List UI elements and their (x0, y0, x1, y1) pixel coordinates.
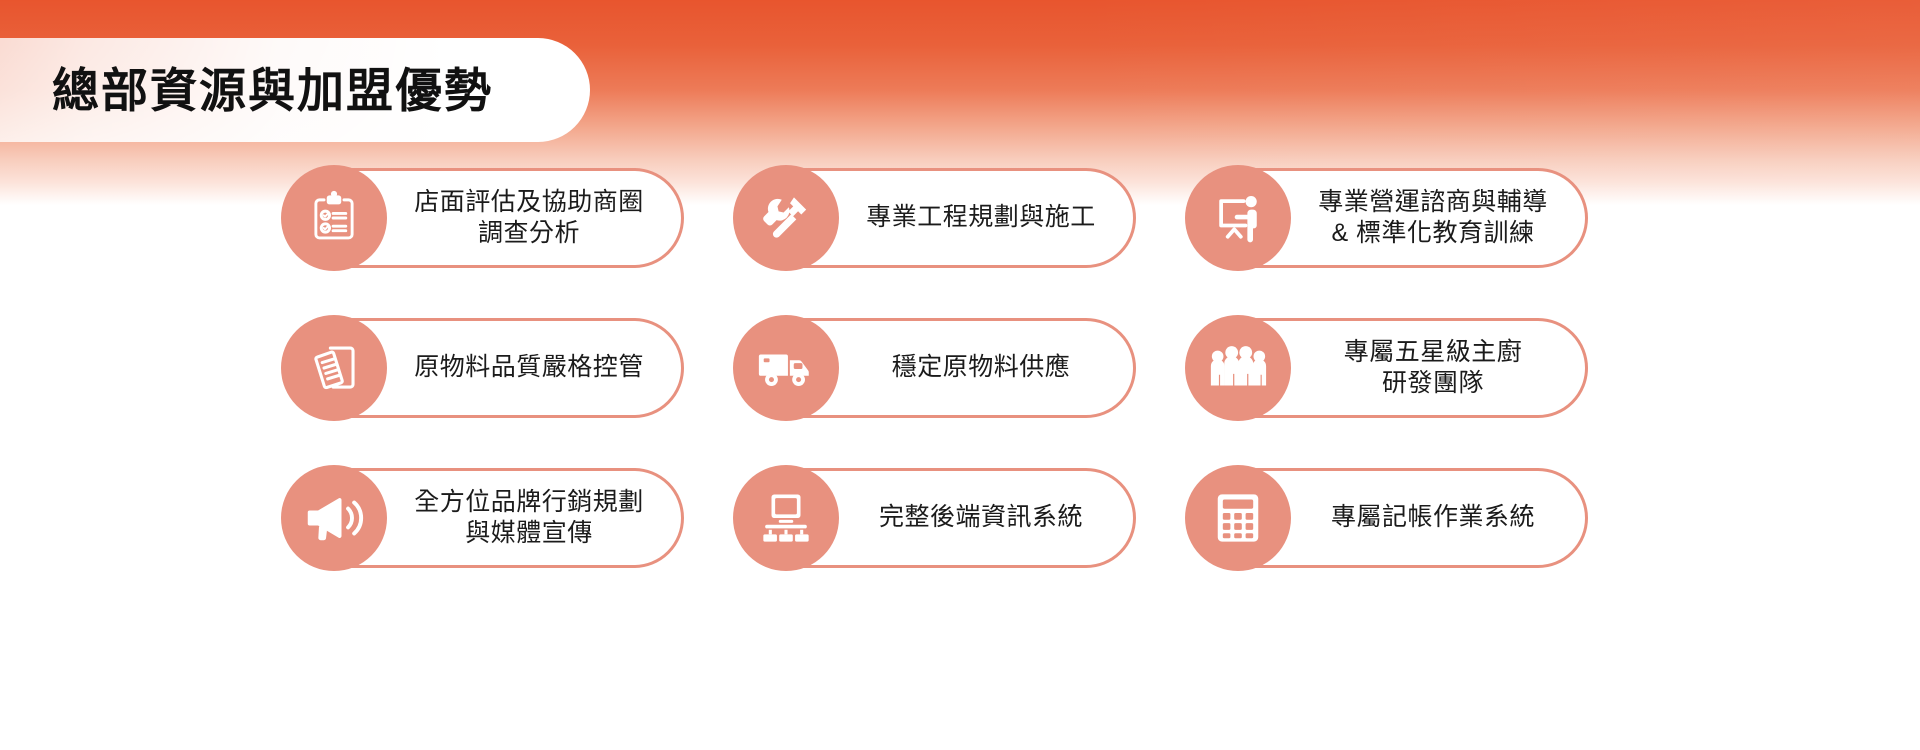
benefit-card-label: 全方位品牌行銷規劃 與媒體宣傳 (395, 487, 663, 550)
benefit-card-label: 店面評估及協助商圈 調查分析 (395, 187, 663, 250)
benefit-card[interactable]: 原物料品質嚴格控管 (284, 318, 684, 418)
megaphone-icon (281, 465, 387, 571)
benefit-card-label: 專業工程規劃與施工 (847, 202, 1115, 234)
title-pill: 總部資源與加盟優勢 (0, 38, 590, 142)
benefit-card[interactable]: 店面評估及協助商圈 調查分析 (284, 168, 684, 268)
grid-cell: 全方位品牌行銷規劃 與媒體宣傳 (284, 468, 736, 568)
computer-network-icon (733, 465, 839, 571)
benefit-card[interactable]: 穩定原物料供應 (736, 318, 1136, 418)
grid-cell: 穩定原物料供應 (736, 318, 1188, 418)
grid-cell: 專業工程規劃與施工 (736, 168, 1188, 268)
benefit-card[interactable]: 完整後端資訊系統 (736, 468, 1136, 568)
calculator-icon (1185, 465, 1291, 571)
wrench-hammer-icon (733, 165, 839, 271)
page-title: 總部資源與加盟優勢 (52, 67, 493, 114)
benefit-card-label: 原物料品質嚴格控管 (395, 352, 663, 384)
benefit-card[interactable]: 全方位品牌行銷規劃 與媒體宣傳 (284, 468, 684, 568)
benefit-card[interactable]: 專業工程規劃與施工 (736, 168, 1136, 268)
page-root: 總部資源與加盟優勢 (0, 0, 1920, 750)
clipboard-checklist-icon (281, 165, 387, 271)
people-group-icon (1185, 315, 1291, 421)
grid-cell: 專屬五星級主廚 研發團隊 (1188, 318, 1640, 418)
grid-cell: 完整後端資訊系統 (736, 468, 1188, 568)
benefit-card-label: 專業營運諮商與輔導 & 標準化教育訓練 (1299, 187, 1567, 250)
grid-cell: 店面評估及協助商圈 調查分析 (284, 168, 736, 268)
benefit-card[interactable]: 專屬五星級主廚 研發團隊 (1188, 318, 1588, 418)
benefit-card-label: 專屬五星級主廚 研發團隊 (1299, 337, 1567, 400)
benefit-card-label: 穩定原物料供應 (847, 352, 1115, 384)
box-document-icon (281, 315, 387, 421)
grid-cell: 專屬記帳作業系統 (1188, 468, 1640, 568)
benefit-card[interactable]: 專屬記帳作業系統 (1188, 468, 1588, 568)
grid-cell: 原物料品質嚴格控管 (284, 318, 736, 418)
benefit-card[interactable]: 專業營運諮商與輔導 & 標準化教育訓練 (1188, 168, 1588, 268)
benefit-card-label: 專屬記帳作業系統 (1299, 502, 1567, 534)
benefit-card-label: 完整後端資訊系統 (847, 502, 1115, 534)
benefits-grid: 店面評估及協助商圈 調查分析 專業工程規劃與施工 (0, 168, 1920, 568)
presenter-whiteboard-icon (1185, 165, 1291, 271)
delivery-truck-icon (733, 315, 839, 421)
grid-cell: 專業營運諮商與輔導 & 標準化教育訓練 (1188, 168, 1640, 268)
